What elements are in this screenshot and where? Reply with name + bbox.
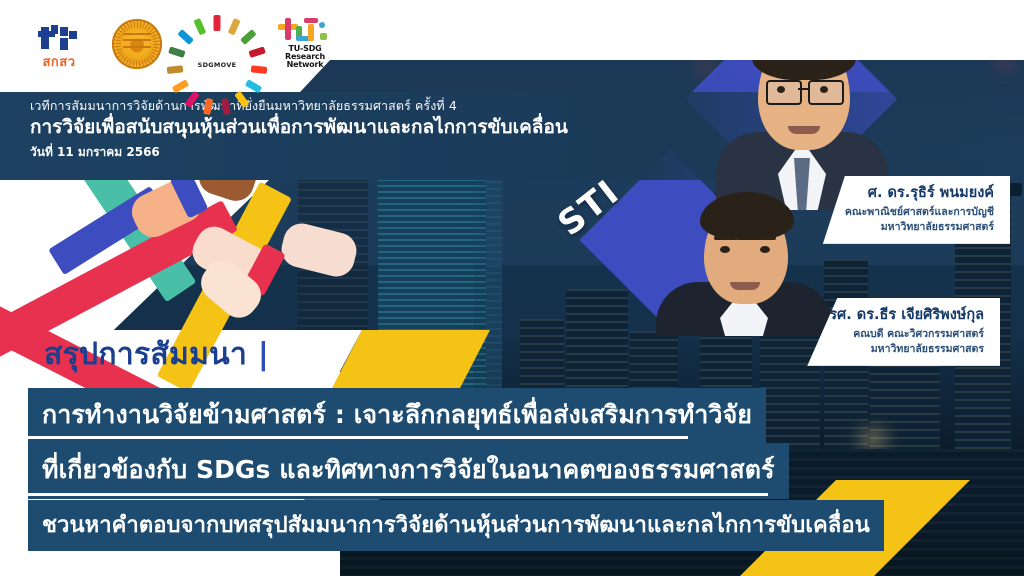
speaker-2-affiliation-2: มหาวิทยาลัยธรรมศาสตร (829, 342, 984, 358)
speaker-1-brow-right (812, 72, 836, 76)
kicker-bar: | (258, 337, 269, 372)
kicker-text: สรุปการสัมมนา (44, 337, 247, 372)
speaker-1-nameplate: ศ. ดร.รุธิร์ พนมยงค์ คณะพาณิชย์ศาสตร์และ… (823, 176, 1010, 244)
header-text-block: เวทีการสัมมนาการวิจัยด้านการพัฒนาที่ยั่ง… (30, 97, 568, 161)
speaker-1-brow-left (770, 72, 794, 76)
header-line-1: เวทีการสัมมนาการวิจัยด้านการพัฒนาที่ยั่ง… (30, 97, 568, 115)
skw-logo[interactable]: สกสว (30, 25, 88, 69)
tu-mark-icon (278, 18, 332, 45)
speaker-1-name: ศ. ดร.รุธิร์ พนมยงค์ (845, 183, 994, 205)
sdg-colour-wheel-icon (195, 16, 239, 60)
speaker-2-eye-right (760, 246, 770, 253)
speaker-1-mouth (788, 126, 820, 134)
speaker-2-affiliation-1: คณบดี คณะวิศวกรรมศาสตร์ (829, 327, 984, 343)
logo-row: สกสว (30, 16, 338, 69)
speaker-2-brow-right (754, 236, 776, 240)
header-line-2: การวิจัยเพื่อสนับสนุนหุ้นส่วนเพื่อการพัฒ… (30, 114, 568, 142)
speaker-1-affiliation-1: คณะพาณิชย์ศาสตร์และการบัญชี (845, 205, 994, 221)
sdgmove-logo[interactable]: SDGMOVE (186, 16, 248, 69)
title-separator-2 (28, 493, 768, 496)
speaker-2-hair (700, 192, 794, 240)
thammasat-seal-logo[interactable] (112, 19, 162, 69)
speaker-1-eye-left (777, 86, 785, 93)
speaker-1-affiliation-2: มหาวิทยาลัยธรรมศาสตร์ (845, 220, 994, 236)
title-separator-1 (28, 436, 688, 439)
speaker-2-eye-left (720, 246, 730, 253)
header-line-3-date: วันที่ 11 มกราคม 2566 (30, 143, 568, 161)
speaker-2-brow-left (714, 236, 736, 240)
speaker-2-mouth (730, 282, 760, 290)
skw-logo-label: สกสว (30, 56, 88, 69)
main-title-line-2: ที่เกี่ยวข้องกับ SDGs และทิศทางการวิจัยใ… (28, 443, 789, 499)
tu-sdg-research-network-logo[interactable]: TU-SDG Research Network (272, 18, 338, 69)
sdgmove-logo-label: SDGMOVE (186, 61, 248, 69)
speaker-1-glasses-bridge (798, 88, 808, 90)
speaker-1-eye-right (820, 86, 828, 93)
skw-mark-icon (38, 25, 80, 55)
hand-pale-right (278, 220, 360, 281)
seal-center-icon (123, 30, 151, 58)
speaker-2-photo (654, 186, 834, 336)
poster-canvas: STI สกสว (0, 0, 1024, 576)
main-title-line-3: ชวนหาคำตอบจากบทสรุปสัมมนาการวิจัยด้านหุ้… (28, 500, 884, 551)
speaker-2-name: รศ. ดร.ธีร เจียศิริพงษ์กุล (829, 305, 984, 327)
tu-sdg-label-line3: Network (272, 61, 338, 69)
kicker-heading: สรุปการสัมมนา | (44, 336, 269, 374)
speaker-2-nameplate: รศ. ดร.ธีร เจียศิริพงษ์กุล คณบดี คณะวิศว… (807, 298, 1000, 366)
speaker-1-glasses-left (766, 80, 802, 105)
